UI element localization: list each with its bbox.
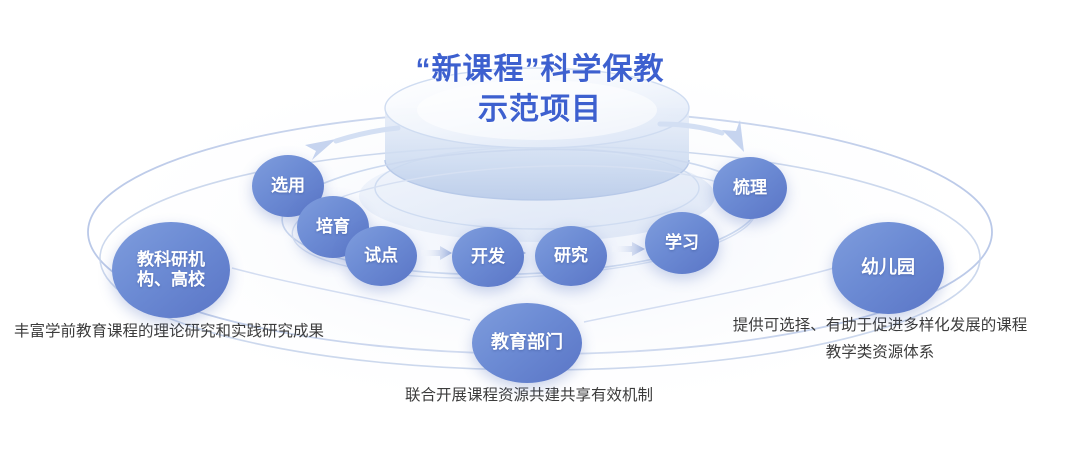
node-kindergarten-label: 幼儿园 [832,257,944,278]
caption-right: 提供可选择、有助于促进多样化发展的课程教学类资源体系 [730,312,1030,366]
node-shidian[interactable]: 试点 [345,226,417,286]
node-research-institutions-line2: 构、高校 [112,270,230,290]
node-kaifa[interactable]: 开发 [452,227,524,287]
node-shidian-label: 试点 [345,246,417,266]
node-xuexi-label: 学习 [645,233,719,253]
diagram-canvas: “新课程”科学保教 示范项目 选用 培育 试点 开发 研究 学习 梳理 教科研机… [0,0,1080,461]
node-education-department-label: 教育部门 [472,332,582,353]
node-shuli[interactable]: 梳理 [713,157,787,219]
node-kaifa-label: 开发 [452,247,524,267]
node-xuanyong-label: 选用 [252,176,324,196]
node-research-institutions-line1: 教科研机 [112,250,230,270]
caption-left: 丰富学前教育课程的理论研究和实践研究成果 [14,318,324,345]
node-kindergarten[interactable]: 幼儿园 [832,222,944,314]
node-yanjiu-label: 研究 [535,246,607,266]
diagram-title-line1: “新课程”科学保教 [0,44,1080,88]
node-xuexi[interactable]: 学习 [645,212,719,274]
node-research-institutions[interactable]: 教科研机 构、高校 [112,222,230,318]
node-research-institutions-label: 教科研机 构、高校 [112,250,230,290]
node-education-department[interactable]: 教育部门 [472,303,582,383]
diagram-title-line2: 示范项目 [0,84,1080,128]
caption-bottom: 联合开展课程资源共建共享有效机制 [378,382,680,409]
node-shuli-label: 梳理 [713,178,787,198]
node-yanjiu[interactable]: 研究 [535,226,607,286]
